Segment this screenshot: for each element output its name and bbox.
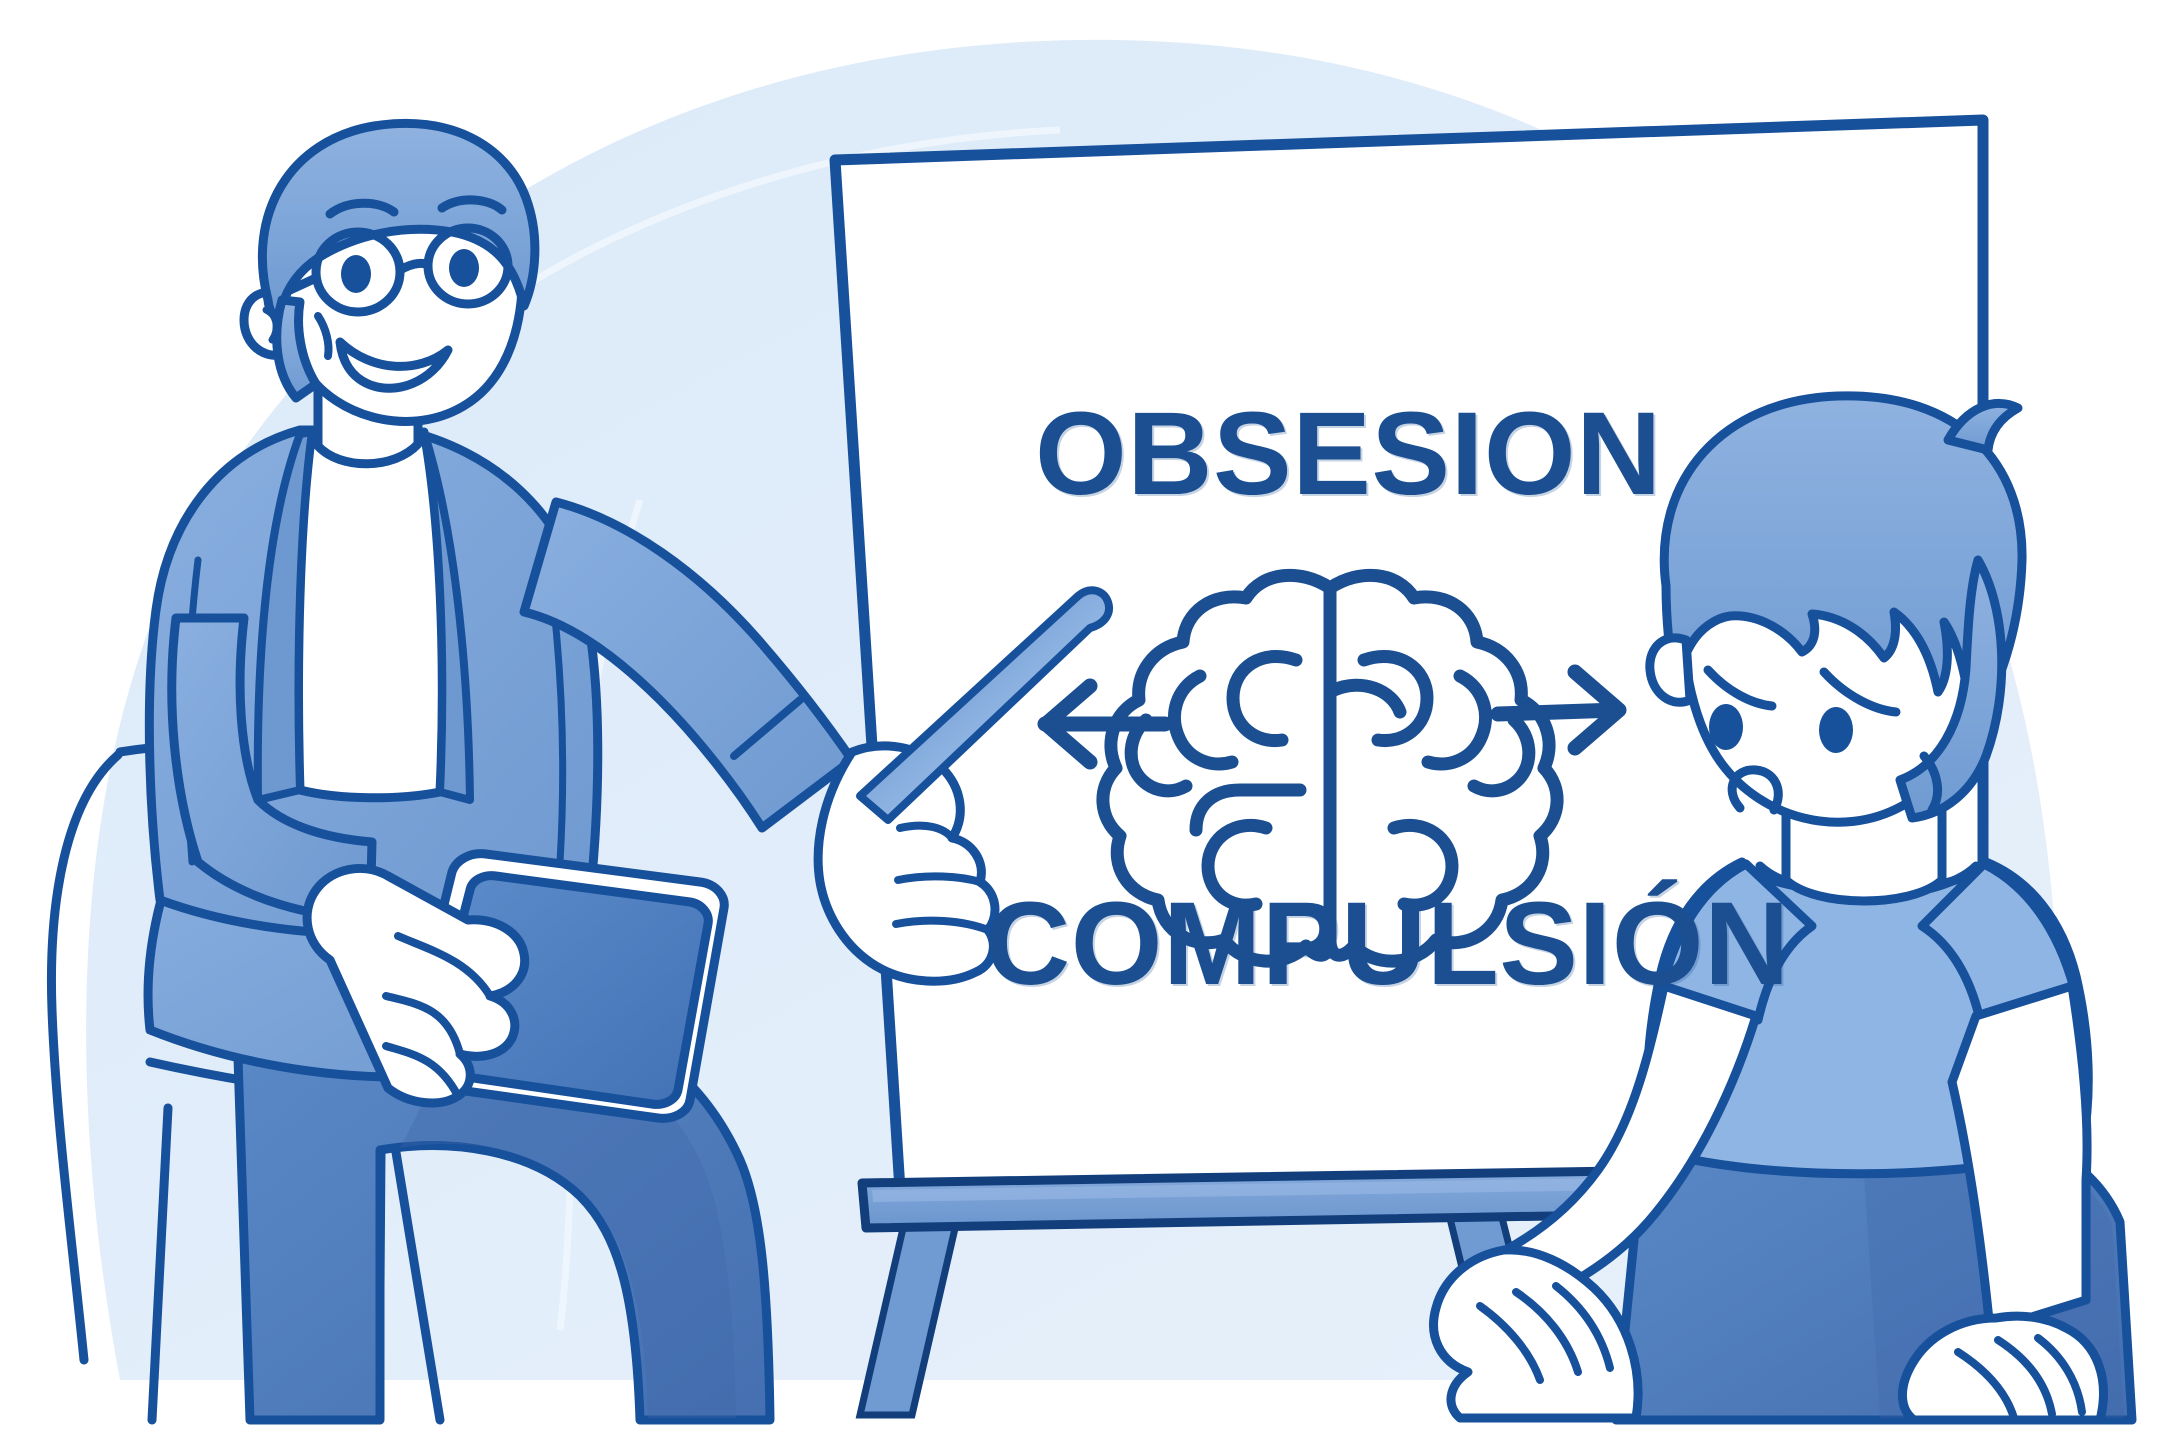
floor-edge [0,1428,2160,1440]
patient-eye-right [1819,707,1853,753]
patient-eye-left [1709,704,1743,750]
scene-illustration [0,0,2160,1440]
therapist-trouser-crease [380,1152,382,1420]
therapist-shirt [299,432,443,798]
therapist-eye-right [449,249,479,287]
therapist-eye-left [341,255,371,293]
patient-ear [1650,638,1690,702]
illustration-canvas: OBSESION COMPULSIÓN [0,0,2160,1440]
